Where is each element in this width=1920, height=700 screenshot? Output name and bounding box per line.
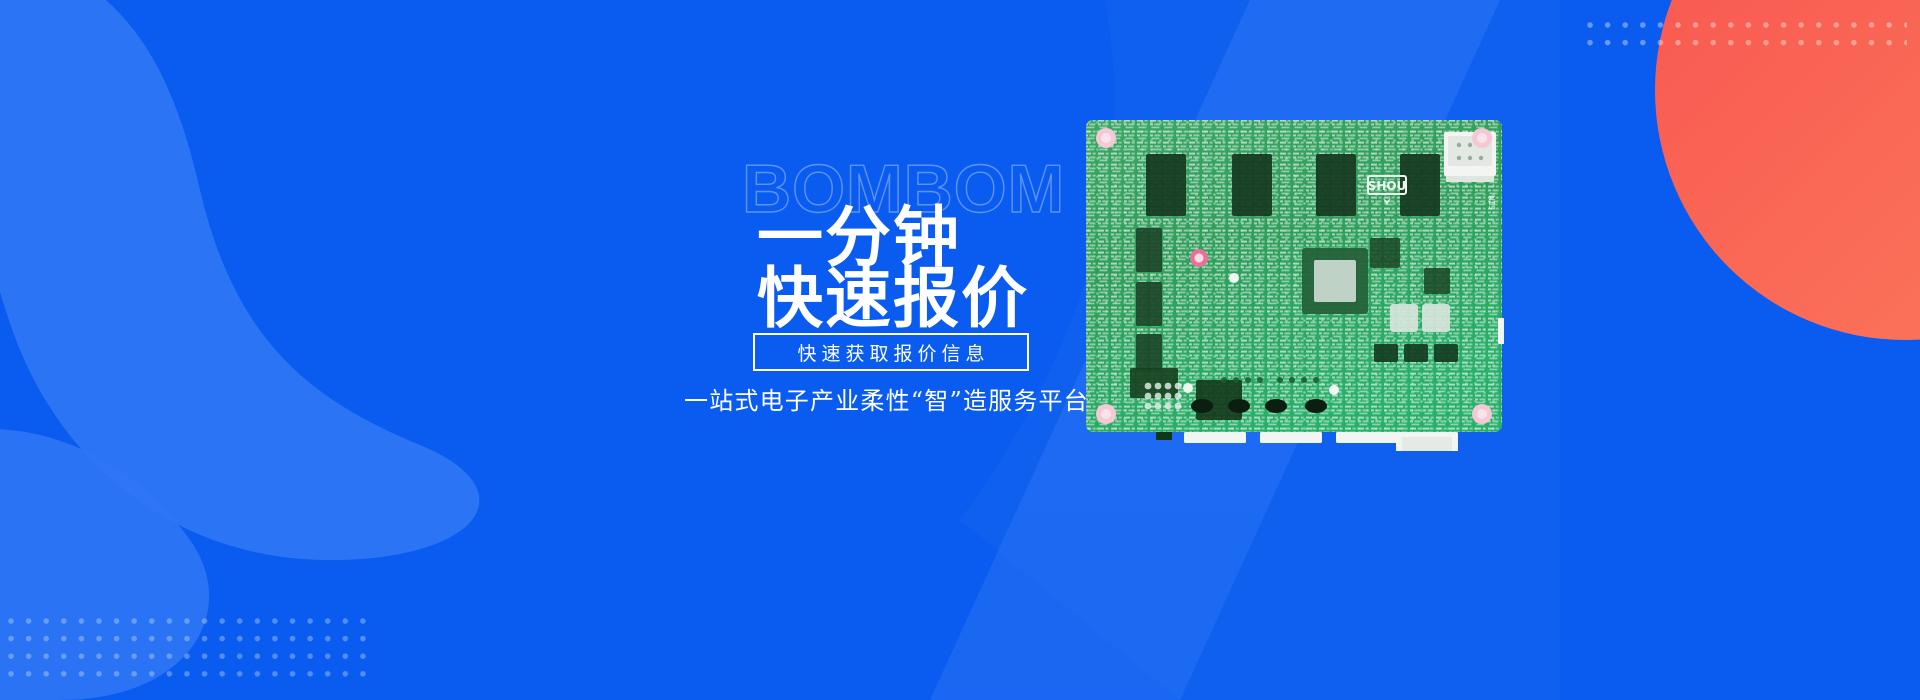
pcb-main-processor: [1302, 248, 1368, 314]
promo-banner: SIM SHOU: [0, 0, 1920, 700]
headline-line-2: 快速报价: [757, 266, 1029, 332]
banner-subtitle: 一站式电子产业柔性“智”造服务平台: [684, 381, 1084, 416]
get-quote-button[interactable]: 快速获取报价信息: [753, 333, 1029, 371]
pcb-ic-column-left: [1136, 228, 1162, 370]
banner-text-block: BOMBOM 一分钟 快速报价 快速获取报价信息 一站式电子产业柔性“智”造服务…: [0, 0, 1090, 700]
pcb-board-graphic: SIM SHOU: [1084, 118, 1504, 451]
pcb-board-image: SIM SHOU: [1084, 118, 1504, 451]
pcb-right-connector: [1498, 318, 1504, 344]
get-quote-button-label: 快速获取报价信息: [792, 339, 989, 366]
pcb-bottom-connectors: [1156, 432, 1458, 451]
svg-text:SHOU: SHOU: [1368, 179, 1407, 193]
pcb-sim-label: SIM: [1488, 195, 1497, 210]
